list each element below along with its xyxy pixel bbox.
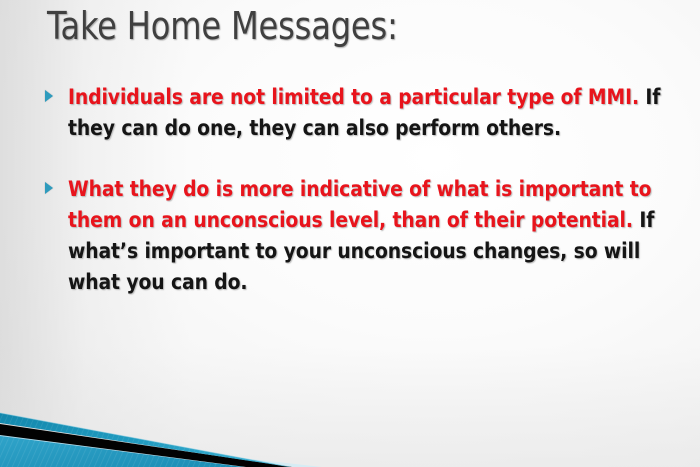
bullet-item-2: What they do is more indicative of what … [42,174,682,298]
bullet-item-1: Individuals are not limited to a particu… [42,82,682,144]
background-bottom-shading [0,347,700,467]
bullet-item-2-text: What they do is more indicative of what … [68,174,664,298]
presentation-slide: Take Home Messages: Individuals are not … [0,0,700,467]
bullet-1-segment-red: Individuals are not limited to a particu… [68,85,639,110]
deco-black-stripe [0,424,292,467]
deco-lower-blue-band [0,436,244,467]
deco-teal-band [0,413,290,467]
deco-teal-band-texture [0,413,290,467]
deco-lower-blue-texture [0,436,244,467]
bullet-item-1-text: Individuals are not limited to a particu… [68,82,664,144]
flow-corner-graphic [0,395,340,467]
bullet-2-segment-red: What they do is more indicative of what … [68,177,651,233]
deco-pale-blue-band [0,431,322,467]
deco-teal-fill-guide [0,413,268,467]
triangle-bullet-icon [45,90,53,102]
slide-body-content: Individuals are not limited to a particu… [42,82,682,328]
triangle-bullet-icon [45,182,53,194]
slide-title: Take Home Messages: [47,4,398,48]
flow-corner-graphic-svg [0,395,340,467]
deco-teal-highlight-edge [0,413,290,467]
